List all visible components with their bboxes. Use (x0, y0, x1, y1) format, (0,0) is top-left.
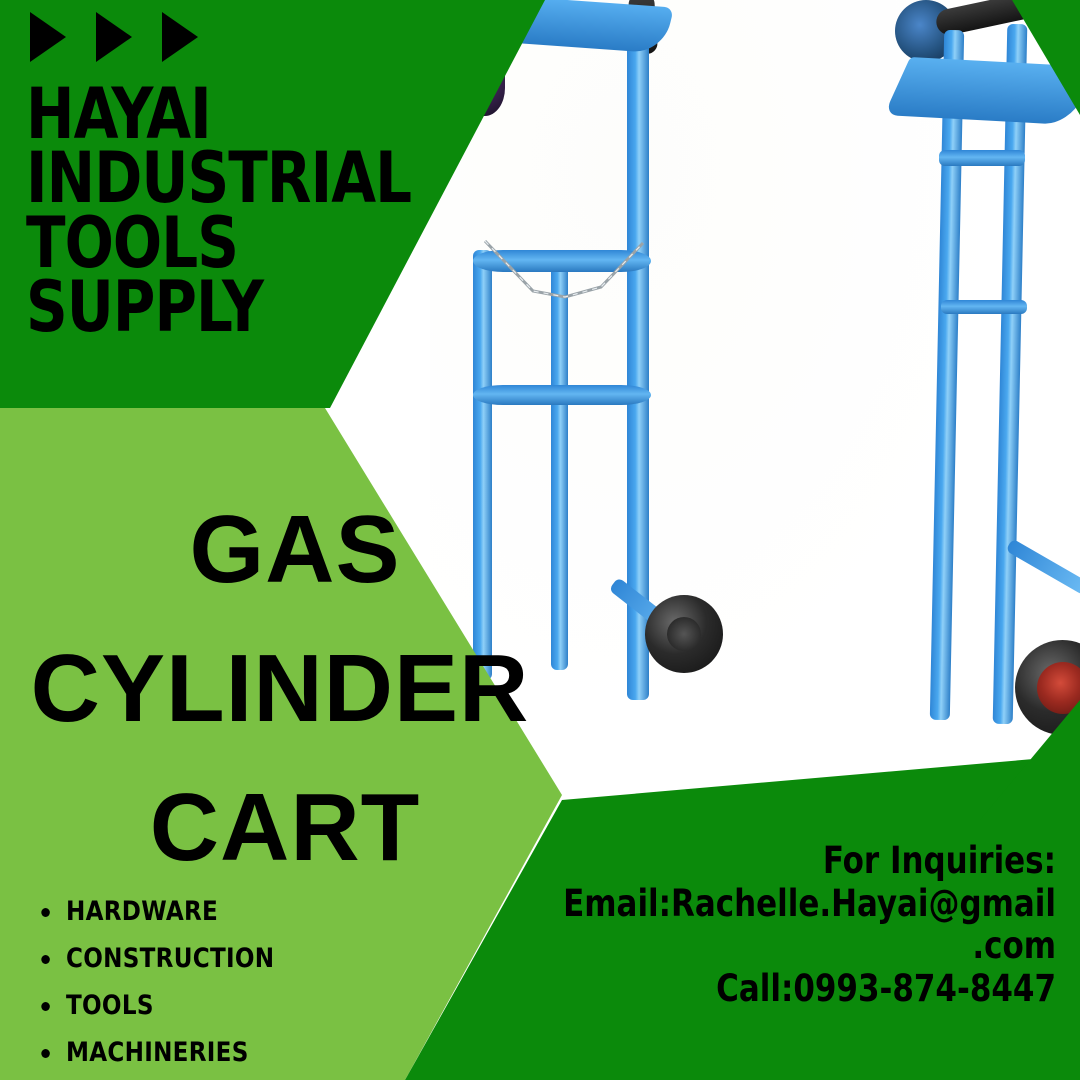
category-list: HARDWARE CONSTRUCTION TOOLS MACHINERIES (28, 888, 285, 1076)
list-item: HARDWARE (66, 888, 274, 935)
contact-details: For Inquiries: Email:Rachelle.Hayai@gmai… (526, 840, 1056, 1010)
list-item: TOOLS (66, 982, 274, 1029)
list-item: CONSTRUCTION (66, 935, 274, 982)
brand-line-4: SUPPLY (26, 275, 394, 339)
promo-poster: HAYAI INDUSTRIAL TOOLS SUPPLY GAS CYLIND… (0, 0, 1080, 1080)
list-item: MACHINERIES (66, 1029, 274, 1076)
arrow-decoration (30, 12, 198, 62)
headline-line-3: CART (10, 758, 560, 897)
product-headline: GAS CYLINDER CART (0, 480, 560, 898)
headline-line-2: CYLINDER (0, 619, 560, 758)
headline-line-1: GAS (30, 480, 560, 619)
triangle-right-icon (96, 12, 132, 62)
corner-wedge-top-right (1012, 0, 1080, 115)
corner-wedge-bottom-right (980, 700, 1080, 820)
contact-phone: Call:0993-874-8447 (563, 968, 1056, 1011)
contact-email-line-1: Email:Rachelle.Hayai@gmail (563, 883, 1056, 926)
triangle-right-icon (30, 12, 66, 62)
contact-email-line-2: .com (563, 925, 1056, 968)
contact-heading: For Inquiries: (563, 840, 1056, 883)
triangle-right-icon (162, 12, 198, 62)
brand-name: HAYAI INDUSTRIAL TOOLS SUPPLY (26, 82, 426, 340)
